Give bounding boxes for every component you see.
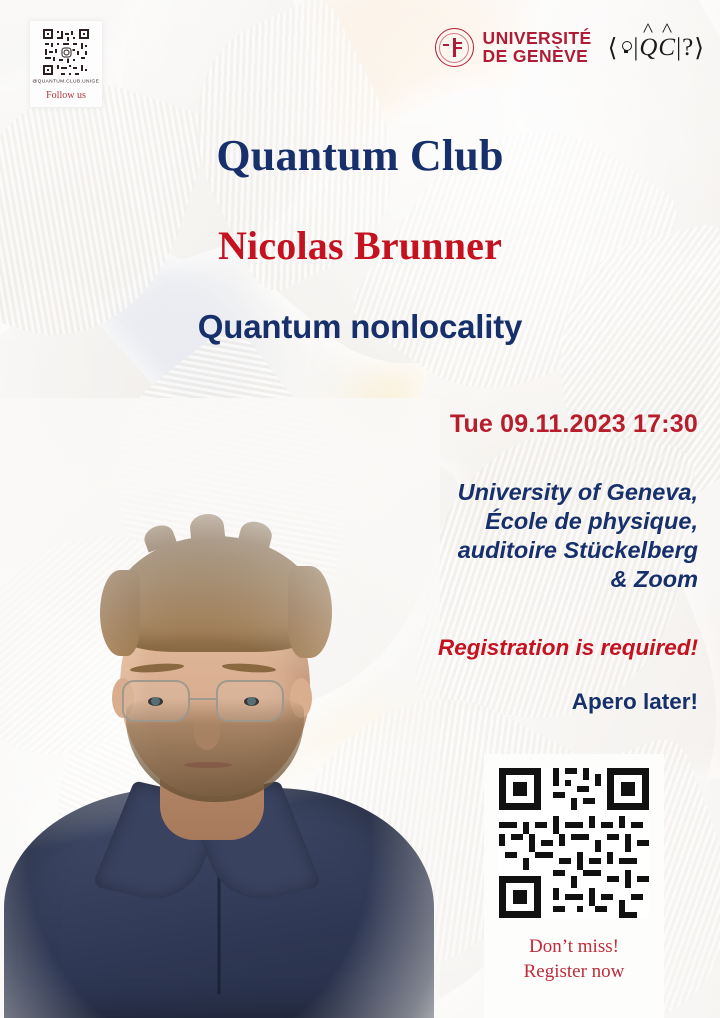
- operator-q: Q: [639, 34, 657, 61]
- venue-line: & Zoom: [458, 565, 698, 594]
- registration-card[interactable]: Don’t miss! Register now: [484, 754, 664, 1018]
- instagram-qr-code[interactable]: [43, 29, 89, 75]
- follow-us-card[interactable]: @QUANTUM.CLUB.UNIGE Follow us: [29, 20, 103, 108]
- instagram-handle: @QUANTUM.CLUB.UNIGE: [33, 78, 100, 83]
- unige-seal-icon: [435, 28, 474, 67]
- lightbulb-icon: [620, 41, 631, 54]
- poster-title: Quantum Club: [0, 130, 720, 181]
- quantum-club-poster: @QUANTUM.CLUB.UNIGE Follow us UNIVERSITÉ…: [0, 0, 720, 1018]
- speaker-name: Nicolas Brunner: [0, 222, 720, 269]
- follow-us-label: Follow us: [46, 90, 86, 101]
- registration-cta-line1: Don’t miss!: [524, 934, 625, 959]
- apero-note: Apero later!: [572, 689, 698, 715]
- ket-symbol: ⟩: [694, 33, 704, 63]
- registration-cta-line2: Register now: [524, 959, 625, 984]
- instagram-icon: [60, 46, 73, 59]
- bar-symbol-2: |: [676, 34, 681, 62]
- bra-symbol: ⟨: [608, 33, 618, 63]
- venue-line: École de physique,: [458, 507, 698, 536]
- unige-logo[interactable]: UNIVERSITÉ DE GENÈVE: [435, 28, 592, 67]
- registration-required-note: Registration is required!: [438, 635, 698, 661]
- venue-line: University of Geneva,: [458, 478, 698, 507]
- registration-cta: Don’t miss! Register now: [524, 934, 625, 984]
- quantum-club-logo[interactable]: ⟨ | Q C | ? ⟩: [608, 33, 704, 63]
- question-symbol: ?: [682, 34, 693, 62]
- operator-c: C: [658, 34, 675, 61]
- registration-qr-code[interactable]: [499, 768, 649, 918]
- talk-title: Quantum nonlocality: [0, 308, 720, 346]
- logo-bar: UNIVERSITÉ DE GENÈVE ⟨ | Q C | ? ⟩: [435, 28, 704, 67]
- unige-logo-line1: UNIVERSITÉ: [483, 30, 592, 48]
- unige-logo-line2: DE GENÈVE: [483, 48, 592, 66]
- bar-symbol-1: |: [633, 34, 638, 62]
- venue-line: auditoire Stückelberg: [458, 536, 698, 565]
- event-datetime: Tue 09.11.2023 17:30: [450, 410, 698, 439]
- event-venue: University of Geneva, École de physique,…: [458, 478, 698, 594]
